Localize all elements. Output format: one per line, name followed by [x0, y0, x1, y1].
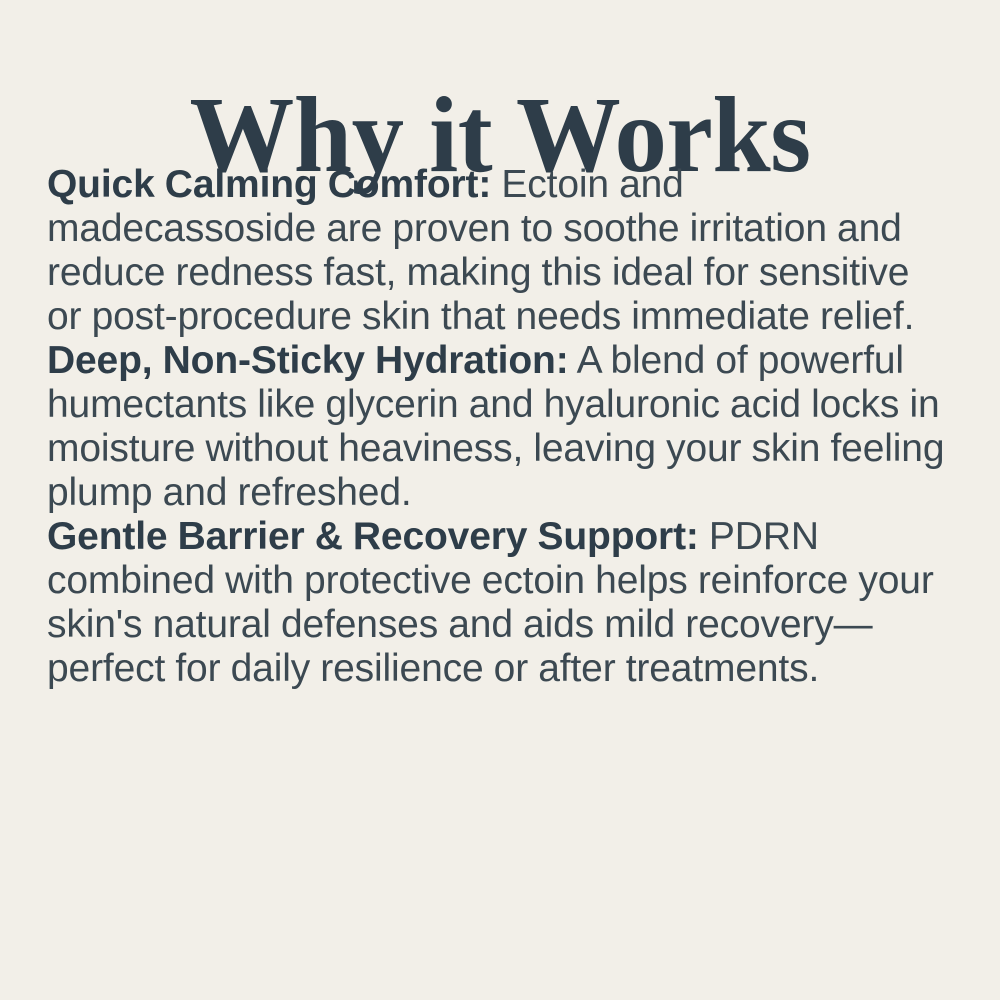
benefit-item-quick-calming-comfort: Quick Calming Comfort: Ectoin and madeca…: [47, 163, 947, 339]
benefit-title: Deep, Non-Sticky Hydration:: [47, 339, 569, 382]
benefit-item-gentle-barrier-recovery-support: Gentle Barrier & Recovery Support: PDRN …: [47, 515, 947, 691]
benefit-title: Gentle Barrier & Recovery Support:: [47, 515, 699, 558]
benefit-title: Quick Calming Comfort:: [47, 163, 491, 206]
why-it-works-card: Why it Works Quick Calming Comfort: Ecto…: [0, 0, 1000, 1000]
benefits-list: Quick Calming Comfort: Ectoin and madeca…: [47, 163, 947, 691]
benefit-item-deep-non-sticky-hydration: Deep, Non-Sticky Hydration: A blend of p…: [47, 339, 947, 515]
